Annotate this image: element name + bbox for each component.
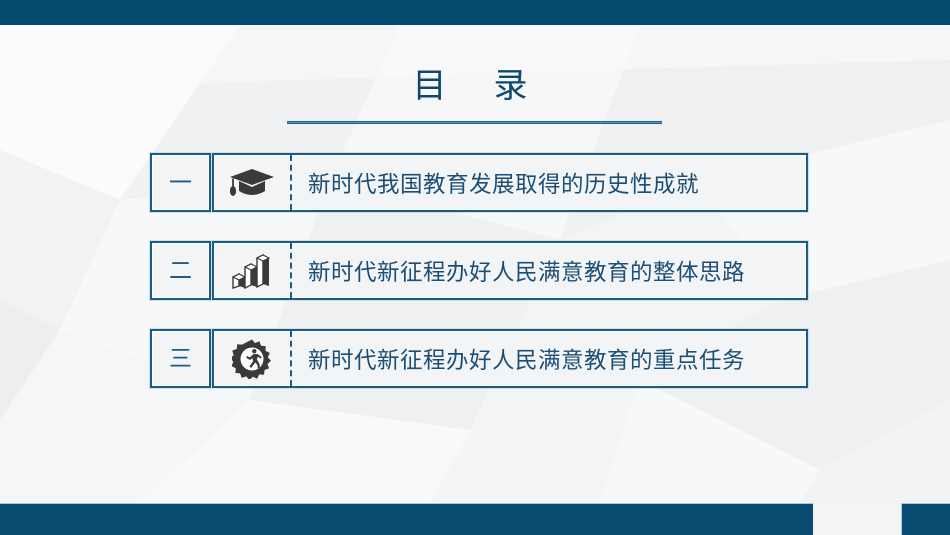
toc-item-label-2: 新时代新征程办好人民满意教育的整体思路 xyxy=(292,255,806,287)
bar-chart-icon xyxy=(214,243,292,298)
graduation-cap-icon xyxy=(214,155,292,210)
gear-runner-icon xyxy=(214,331,292,386)
toc-item-label-1: 新时代我国教育发展取得的历史性成就 xyxy=(292,167,806,199)
toc-number-box-1: 一 xyxy=(150,153,211,212)
toc-number-1: 一 xyxy=(169,171,192,194)
toc-content-box-1[interactable]: 新时代我国教育发展取得的历史性成就 xyxy=(212,153,808,212)
toc-number-box-2: 二 xyxy=(150,241,211,300)
bottom-accent-bar-main xyxy=(0,503,813,535)
top-accent-bar xyxy=(0,0,950,25)
title-underline-rule xyxy=(287,121,662,124)
toc-item-label-3: 新时代新征程办好人民满意教育的重点任务 xyxy=(292,343,806,375)
toc-number-2: 二 xyxy=(169,259,192,282)
toc-content-box-2[interactable]: 新时代新征程办好人民满意教育的整体思路 xyxy=(212,241,808,300)
page-title: 目 录 xyxy=(0,58,950,107)
slide-canvas: 目 录 一 新时代我国教育发展取得的历史性成就 二 xyxy=(0,0,950,535)
bottom-accent-bar-side xyxy=(901,503,950,535)
toc-content-box-3[interactable]: 新时代新征程办好人民满意教育的重点任务 xyxy=(212,329,808,388)
toc-number-3: 三 xyxy=(169,347,192,370)
toc-number-box-3: 三 xyxy=(150,329,211,388)
